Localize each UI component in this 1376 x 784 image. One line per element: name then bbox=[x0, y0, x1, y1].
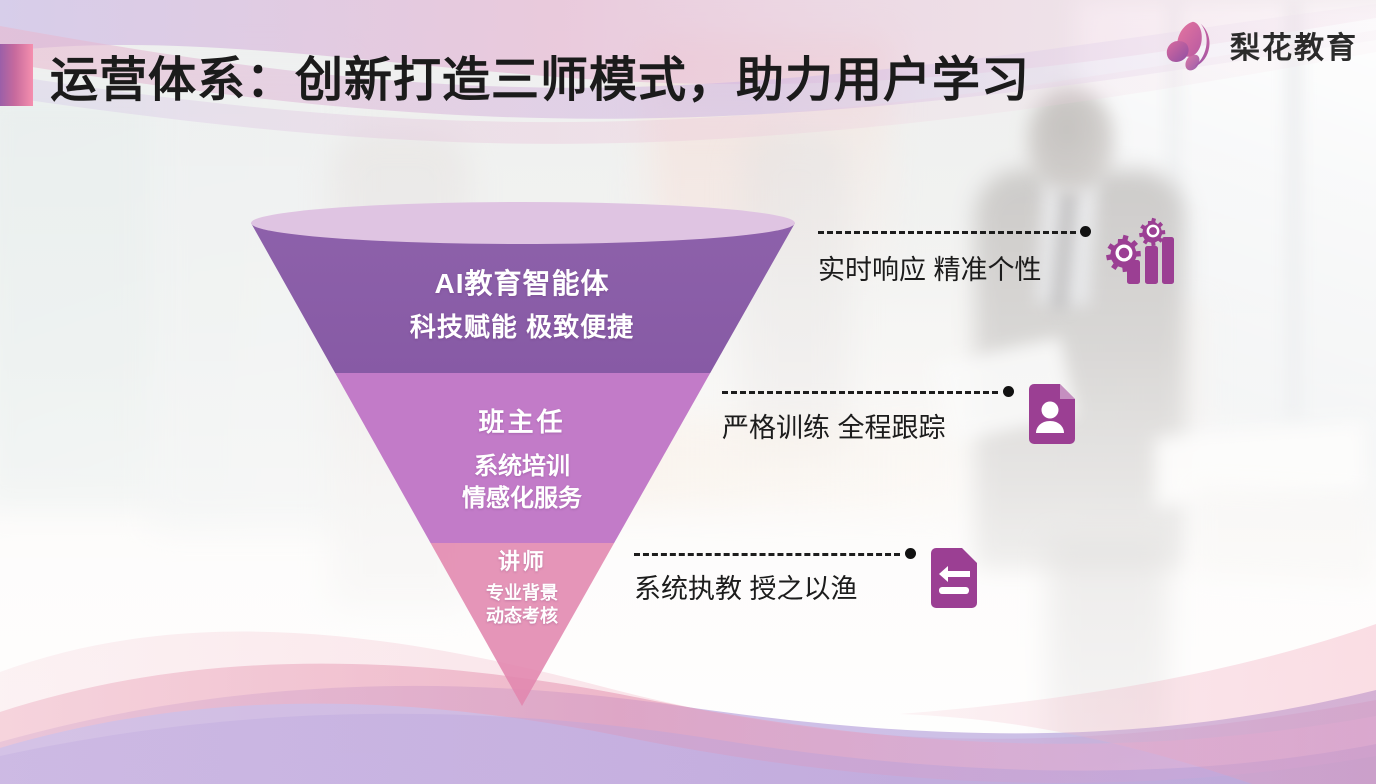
funnel-top-ellipse bbox=[251, 202, 795, 244]
funnel-subtitle-lecturer: 专业背景 动态考核 bbox=[440, 582, 604, 629]
ribbon-bottom-5 bbox=[900, 624, 1376, 784]
background-photo bbox=[0, 0, 1376, 784]
callout-endpoint-dot-1 bbox=[1080, 226, 1091, 237]
person-document-icon bbox=[1025, 383, 1077, 450]
callout-endpoint-dot-3 bbox=[905, 548, 916, 559]
ribbon-bottom-1 bbox=[0, 632, 1376, 784]
callout-endpoint-dot-2 bbox=[1003, 386, 1014, 397]
ribbon-bottom-2 bbox=[0, 686, 1376, 784]
background-presenter-tie bbox=[1050, 189, 1078, 310]
funnel-subtitle-ai-agent: 科技赋能 极致便捷 bbox=[338, 311, 706, 344]
callout-leader-line-1 bbox=[818, 231, 1076, 234]
callout-text-3: 系统执教 授之以渔 bbox=[634, 567, 858, 606]
funnel-subtitle-class-teacher-line2: 情感化服务 bbox=[400, 483, 644, 515]
funnel-heading-lecturer: 讲师 bbox=[440, 548, 604, 576]
ribbon-bottom-3 bbox=[0, 664, 1376, 783]
background-wall-panel bbox=[150, 60, 350, 530]
ribbon-bottom-4 bbox=[0, 714, 1376, 784]
background-whiteboard bbox=[0, 90, 240, 510]
background-desk-1 bbox=[1155, 423, 1365, 508]
background-haze-overlay bbox=[0, 0, 1376, 784]
funnel-subtitle-class-teacher-line1: 系统培训 bbox=[400, 451, 644, 483]
slide-canvas: 运营体系：创新打造三师模式，助力用户学习 bbox=[0, 0, 1376, 784]
funnel-subtitle-class-teacher: 系统培训 情感化服务 bbox=[400, 451, 644, 516]
callout-text-1: 实时响应 精准个性 bbox=[818, 248, 1042, 287]
funnel-diagram bbox=[0, 0, 1376, 784]
callout-leader-line-3 bbox=[634, 553, 900, 556]
background-figure-left bbox=[330, 130, 470, 610]
funnel-heading-class-teacher: 班主任 bbox=[400, 406, 644, 439]
page-title: 运营体系：创新打造三师模式，助力用户学习 bbox=[50, 40, 1030, 110]
background-presenter-head bbox=[1028, 88, 1114, 192]
funnel-heading-ai-agent: AI教育智能体 bbox=[338, 266, 706, 301]
funnel-label-class-teacher: 班主任 系统培训 情感化服务 bbox=[400, 406, 644, 515]
background-presenter-shirt bbox=[1036, 173, 1099, 306]
title-accent-bar bbox=[0, 44, 33, 106]
background-desk-2 bbox=[1195, 485, 1375, 584]
funnel-label-lecturer: 讲师 专业背景 动态考核 bbox=[440, 548, 604, 628]
funnel-subtitle-lecturer-line1: 专业背景 bbox=[440, 582, 604, 605]
brand-logo: 梨花教育 bbox=[1160, 14, 1358, 76]
callout-leader-line-2 bbox=[722, 391, 998, 394]
decorative-ribbons bbox=[0, 0, 1376, 784]
funnel-subtitle-lecturer-line2: 动态考核 bbox=[440, 605, 604, 628]
funnel-label-ai-agent: AI教育智能体 科技赋能 极致便捷 bbox=[338, 266, 706, 344]
callout-text-2: 严格训练 全程跟踪 bbox=[722, 406, 946, 445]
background-presenter-legs bbox=[1048, 540, 1168, 770]
flower-butterfly-icon bbox=[1160, 14, 1222, 76]
logo-wordmark: 梨花教育 bbox=[1230, 23, 1358, 67]
background-bookshelf-block bbox=[660, 120, 780, 230]
background-desk-3 bbox=[1120, 300, 1210, 430]
gear-bar-chart-icon bbox=[1096, 215, 1174, 292]
document-arrow-left-icon bbox=[927, 547, 979, 614]
